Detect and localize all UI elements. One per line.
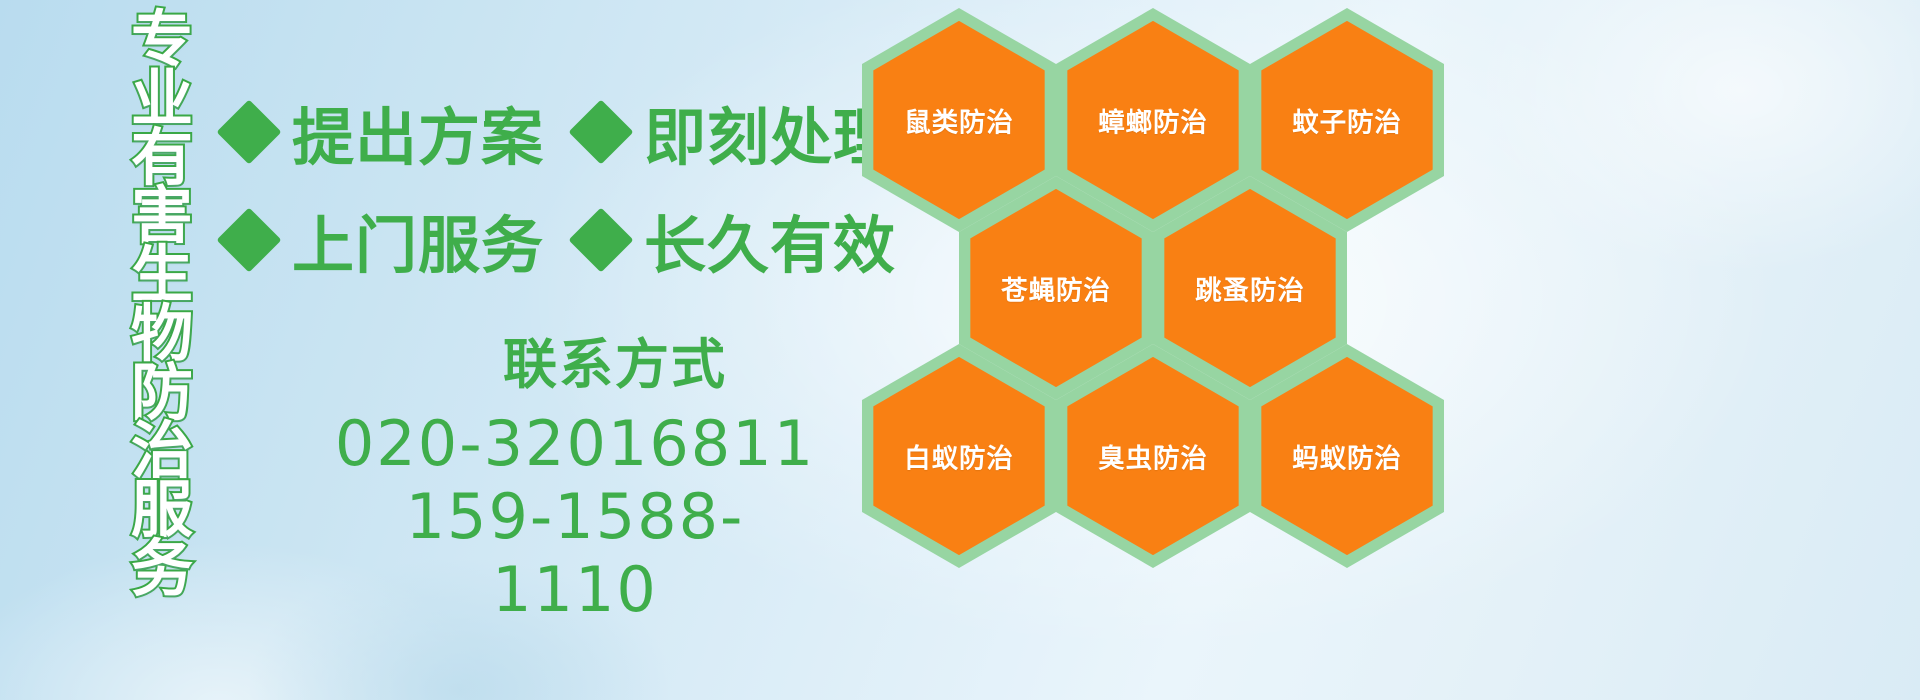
bullet-label: 即刻处理 [644,87,896,177]
diamond-bullet-icon [216,99,281,164]
pest-control-banner: 专 业 有 害 生 物 防 治 服 务 提出方案 即刻处理 上门服务 [0,0,1920,700]
hex-label: 鼠类防治 [904,101,1014,140]
contact-title: 联系方式 [410,320,820,399]
vertical-headline-char: 务 [131,539,193,600]
contact-phone-mobile[interactable]: 159-1588-1110 [330,480,820,626]
hex-service-bedbug[interactable]: 臭虫防治 [1056,344,1250,568]
bullet-item-long-lasting: 长久有效 [578,195,896,285]
hex-label: 跳蚤防治 [1195,269,1305,308]
bullet-row: 提出方案 即刻处理 [226,78,886,186]
diamond-bullet-icon [568,99,633,164]
bullet-item-immediate-handling: 即刻处理 [578,87,896,177]
bullet-label: 上门服务 [292,195,544,285]
background-blur-right [1480,0,1920,270]
service-honeycomb: 鼠类防治 蟑螂防治 蚊子防治 苍蝇防治 跳蚤防治 [862,8,1442,548]
hex-label: 蟑螂防治 [1098,101,1208,140]
hex-label: 苍蝇防治 [1001,269,1111,308]
bullet-row: 上门服务 长久有效 [226,186,886,294]
contact-phone-landline[interactable]: 020-32016811 [330,407,820,480]
bullet-item-propose-plan: 提出方案 [226,87,544,177]
feature-bullet-list: 提出方案 即刻处理 上门服务 长久有效 [226,78,886,294]
diamond-bullet-icon [568,207,633,272]
hex-label: 蚊子防治 [1292,101,1402,140]
hex-service-ant[interactable]: 蚂蚁防治 [1250,344,1444,568]
vertical-headline: 专 业 有 害 生 物 防 治 服 务 [112,10,212,598]
hex-service-termite[interactable]: 白蚁防治 [862,344,1056,568]
hex-label: 臭虫防治 [1098,437,1208,476]
diamond-bullet-icon [216,207,281,272]
bullet-item-onsite-service: 上门服务 [226,195,544,285]
contact-block: 联系方式 020-32016811 159-1588-1110 [300,320,820,626]
bullet-label: 长久有效 [644,195,896,285]
hex-label: 白蚁防治 [904,437,1014,476]
hex-label: 蚂蚁防治 [1292,437,1402,476]
bullet-label: 提出方案 [292,87,544,177]
